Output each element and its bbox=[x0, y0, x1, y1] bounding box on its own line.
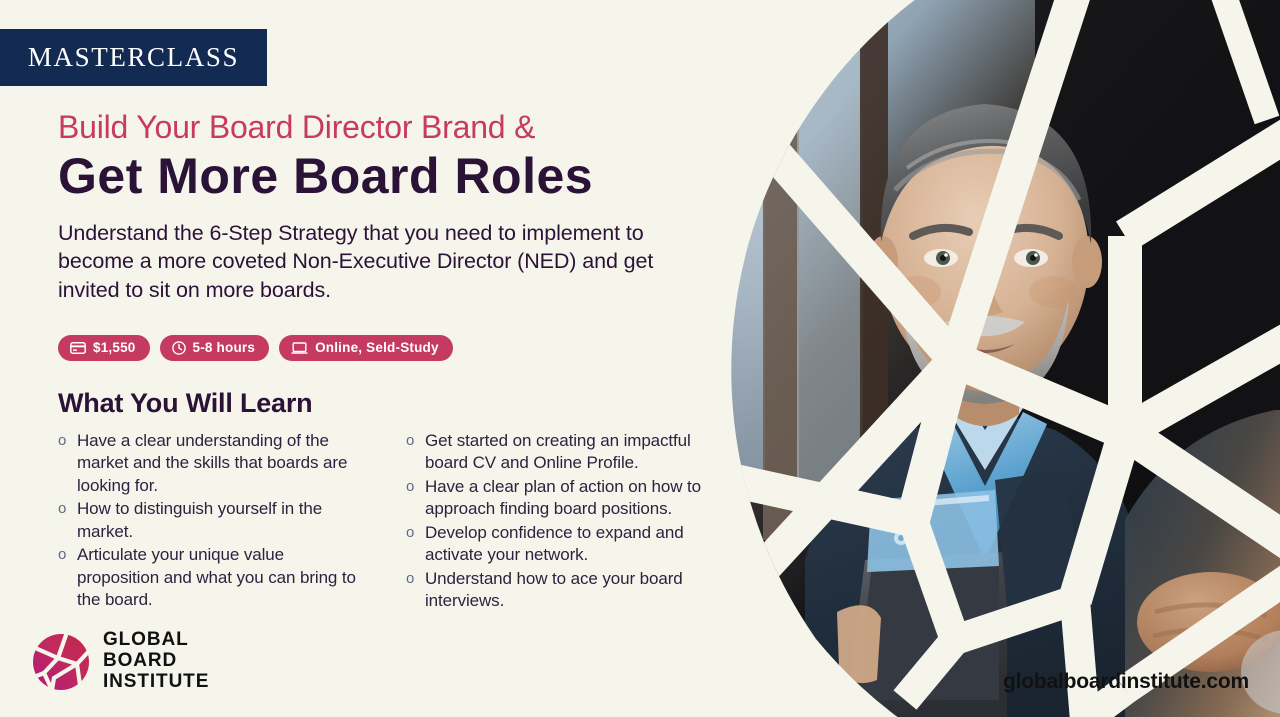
eyebrow-headline: Build Your Board Director Brand & bbox=[58, 110, 708, 145]
list-item-text: Get started on creating an impactful boa… bbox=[425, 431, 691, 472]
bullet-icon: o bbox=[58, 498, 66, 520]
bullet-icon: o bbox=[406, 476, 414, 498]
clock-icon bbox=[172, 341, 186, 355]
laptop-icon bbox=[291, 342, 308, 355]
list-item: o Have a clear plan of action on how to … bbox=[404, 476, 716, 521]
list-item-text: Understand how to ace your board intervi… bbox=[425, 569, 683, 610]
badge-duration-label: 5-8 hours bbox=[193, 341, 256, 355]
list-item: o Understand how to ace your board inter… bbox=[404, 568, 716, 613]
badge-format: Online, Seld-Study bbox=[279, 335, 453, 361]
brand-logo[interactable]: GLOBAL BOARD INSTITUTE bbox=[32, 630, 209, 693]
list-item-text: Have a clear understanding of the market… bbox=[77, 431, 347, 495]
bullet-icon: o bbox=[58, 544, 66, 566]
list-item: o How to distinguish yourself in the mar… bbox=[56, 498, 368, 543]
list-item: o Have a clear understanding of the mark… bbox=[56, 430, 368, 497]
bullet-icon: o bbox=[406, 430, 414, 452]
list-item-text: How to distinguish yourself in the marke… bbox=[77, 499, 322, 540]
list-item-text: Articulate your unique value proposition… bbox=[77, 545, 356, 609]
hero-text-block: Build Your Board Director Brand & Get Mo… bbox=[58, 110, 708, 304]
credit-card-icon bbox=[70, 342, 86, 354]
bullet-icon: o bbox=[406, 522, 414, 544]
learn-columns: o Have a clear understanding of the mark… bbox=[56, 430, 716, 614]
logo-line-2: BOARD bbox=[103, 651, 209, 670]
promo-poster: MASTERCLASS Build Your Board Director Br… bbox=[0, 0, 1280, 717]
hero-photo-region bbox=[655, 0, 1280, 717]
course-meta-badges: $1,550 5-8 hours Online, Seld-Study bbox=[58, 335, 453, 361]
badge-format-label: Online, Seld-Study bbox=[315, 341, 439, 355]
masterclass-tag: MASTERCLASS bbox=[0, 29, 267, 86]
list-item: o Get started on creating an impactful b… bbox=[404, 430, 716, 475]
badge-price: $1,550 bbox=[58, 335, 150, 361]
learn-section-title: What You Will Learn bbox=[58, 388, 312, 419]
hero-description: Understand the 6-Step Strategy that you … bbox=[58, 219, 688, 303]
list-item: o Develop confidence to expand and activ… bbox=[404, 522, 716, 567]
learn-list-right: o Get started on creating an impactful b… bbox=[404, 430, 716, 613]
masterclass-label: MASTERCLASS bbox=[28, 44, 239, 71]
website-url[interactable]: globalboardinstitute.com bbox=[1003, 670, 1249, 694]
learn-column-left: o Have a clear understanding of the mark… bbox=[56, 430, 368, 614]
list-item: o Articulate your unique value propositi… bbox=[56, 544, 368, 611]
hero-photo bbox=[655, 0, 1280, 717]
logo-wordmark: GLOBAL BOARD INSTITUTE bbox=[103, 630, 209, 693]
learn-column-right: o Get started on creating an impactful b… bbox=[404, 430, 716, 614]
bullet-icon: o bbox=[406, 568, 414, 590]
page-title: Get More Board Roles bbox=[58, 149, 708, 203]
list-item-text: Develop confidence to expand and activat… bbox=[425, 523, 684, 564]
logo-line-3: INSTITUTE bbox=[103, 672, 209, 691]
badge-duration: 5-8 hours bbox=[160, 335, 270, 361]
bullet-icon: o bbox=[58, 430, 66, 452]
list-item-text: Have a clear plan of action on how to ap… bbox=[425, 477, 701, 518]
learn-list-left: o Have a clear understanding of the mark… bbox=[56, 430, 368, 612]
global-board-institute-globe-icon bbox=[32, 633, 90, 691]
badge-price-label: $1,550 bbox=[93, 341, 136, 355]
logo-line-1: GLOBAL bbox=[103, 630, 209, 649]
